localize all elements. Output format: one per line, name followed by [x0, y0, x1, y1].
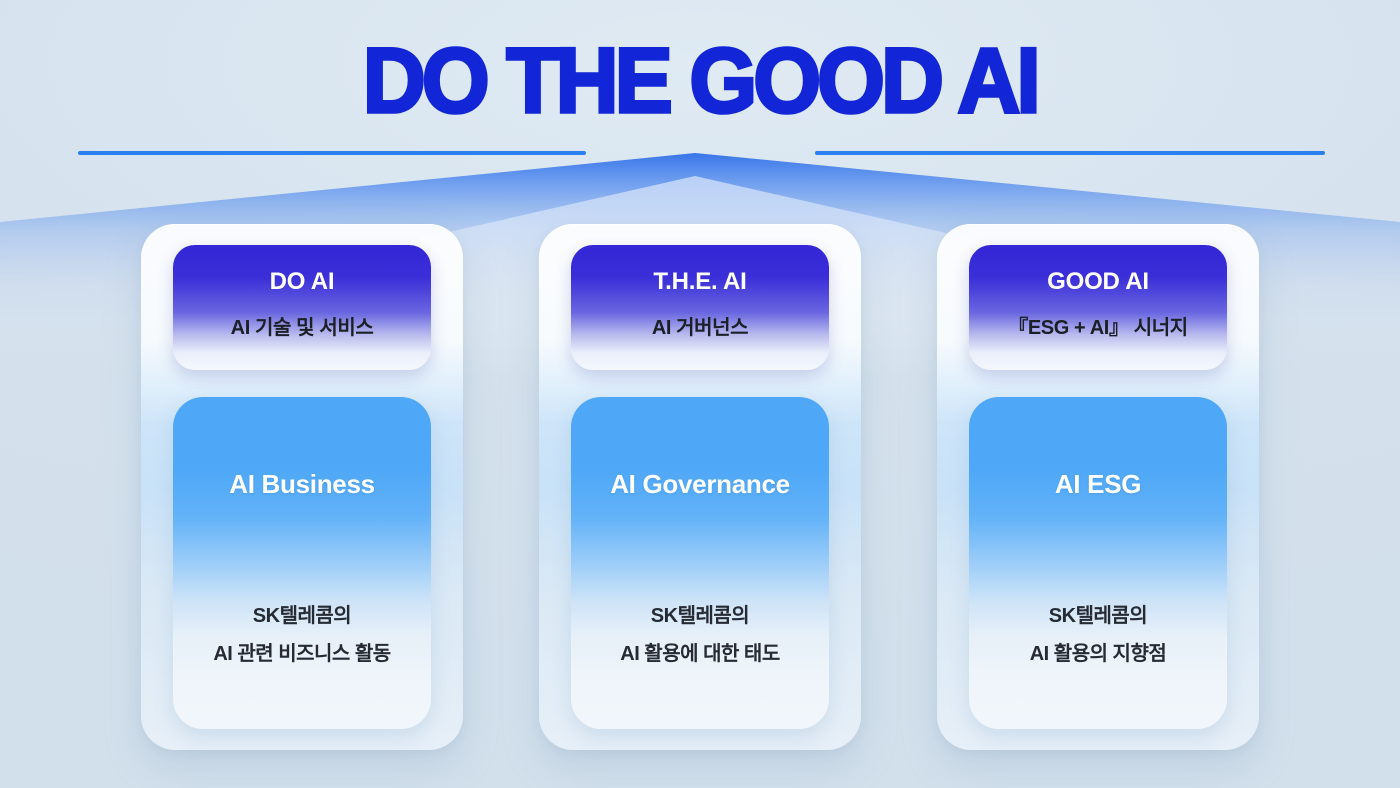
pillar-header-title: T.H.E. AI: [653, 267, 746, 297]
pillar-header-title: DO AI: [270, 267, 335, 297]
pillar-body-title: AI Governance: [610, 468, 790, 500]
pillar-body-title: AI Business: [229, 468, 375, 500]
pillar-body-description-line2: AI 관련 비즈니스 활동: [213, 635, 390, 673]
pillar-columns: DO AI AI 기술 및 서비스 AI Business SK텔레콤의 AI …: [0, 224, 1400, 754]
pillar-body-description-line2: AI 활용에 대한 태도: [620, 635, 779, 673]
slide-canvas: DO THE GOOD AI: [0, 0, 1400, 788]
pillar-card-do-ai[interactable]: DO AI AI 기술 및 서비스 AI Business SK텔레콤의 AI …: [141, 224, 463, 750]
pillar-body-the-ai: AI Governance SK텔레콤의 AI 활용에 대한 태도: [571, 397, 829, 729]
pillar-header-title: GOOD AI: [1047, 267, 1149, 297]
pillar-header-subtitle: AI 거버넌스: [652, 315, 748, 341]
divider-line-right: [815, 151, 1325, 155]
pillar-body-description-line2: AI 활용의 지향점: [1030, 635, 1167, 673]
page-title: DO THE GOOD AI: [363, 30, 1037, 133]
pillar-body-good-ai: AI ESG SK텔레콤의 AI 활용의 지향점: [969, 397, 1227, 729]
pillar-body-description: SK텔레콤의 AI 관련 비즈니스 활동: [213, 597, 390, 673]
pillar-card-the-ai[interactable]: T.H.E. AI AI 거버넌스 AI Governance SK텔레콤의 A…: [539, 224, 861, 750]
pillar-card-good-ai[interactable]: GOOD AI 『ESG + AI』 시너지 AI ESG SK텔레콤의 AI …: [937, 224, 1259, 750]
pillar-header-subtitle: AI 기술 및 서비스: [231, 315, 374, 341]
pillar-body-description: SK텔레콤의 AI 활용의 지향점: [1030, 597, 1167, 673]
pillar-header-do-ai: DO AI AI 기술 및 서비스: [173, 245, 431, 370]
pillar-header-good-ai: GOOD AI 『ESG + AI』 시너지: [969, 245, 1227, 370]
pillar-body-title: AI ESG: [1055, 468, 1141, 500]
divider-line-left: [78, 151, 586, 155]
pillar-body-description-line1: SK텔레콤의: [1030, 597, 1167, 635]
pillar-body-description-line1: SK텔레콤의: [213, 597, 390, 635]
pillar-header-subtitle: 『ESG + AI』 시너지: [1008, 315, 1187, 341]
pillar-body-description: SK텔레콤의 AI 활용에 대한 태도: [620, 597, 779, 673]
title-block: DO THE GOOD AI: [0, 30, 1400, 122]
pillar-body-do-ai: AI Business SK텔레콤의 AI 관련 비즈니스 활동: [173, 397, 431, 729]
pillar-body-description-line1: SK텔레콤의: [620, 597, 779, 635]
pillar-header-the-ai: T.H.E. AI AI 거버넌스: [571, 245, 829, 370]
